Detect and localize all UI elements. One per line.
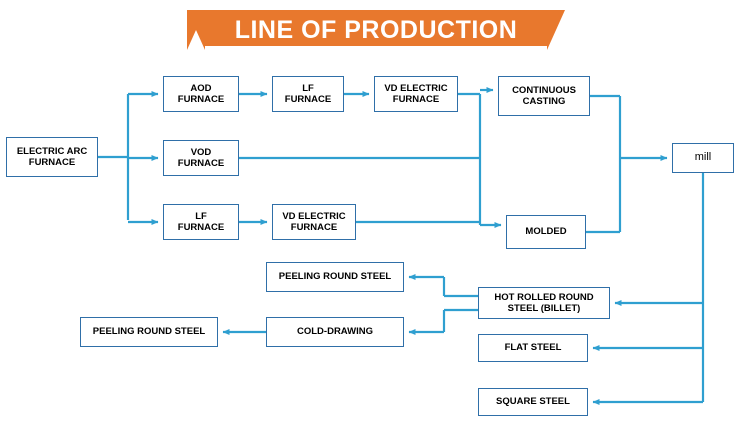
title-banner: LINE OF PRODUCTION — [187, 10, 565, 50]
node-hot-rolled-round-steel[interactable]: HOT ROLLED ROUNDSTEEL (BILLET) — [478, 287, 610, 319]
page-title: LINE OF PRODUCTION — [187, 10, 565, 50]
node-label: VD ELECTRICFURNACE — [282, 211, 345, 234]
node-label: AODFURNACE — [178, 83, 224, 106]
node-label: SQUARE STEEL — [496, 396, 570, 408]
node-label: ELECTRIC ARCFURNACE — [17, 146, 87, 169]
node-flat-steel[interactable]: FLAT STEEL — [478, 334, 588, 362]
node-aod-furnace[interactable]: AODFURNACE — [163, 76, 239, 112]
node-molded[interactable]: MOLDED — [506, 215, 586, 249]
node-label: CONTINUOUSCASTING — [512, 85, 576, 108]
node-electric-arc-furnace[interactable]: ELECTRIC ARCFURNACE — [6, 137, 98, 177]
node-vd-electric-furnace-bottom[interactable]: VD ELECTRICFURNACE — [272, 204, 356, 240]
node-vd-electric-furnace-top[interactable]: VD ELECTRICFURNACE — [374, 76, 458, 112]
node-vod-furnace[interactable]: VODFURNACE — [163, 140, 239, 176]
node-label: MOLDED — [525, 226, 566, 238]
node-label: LFFURNACE — [285, 83, 331, 106]
node-label: COLD-DRAWING — [297, 326, 373, 338]
node-continuous-casting[interactable]: CONTINUOUSCASTING — [498, 76, 590, 116]
node-square-steel[interactable]: SQUARE STEEL — [478, 388, 588, 416]
node-label: LFFURNACE — [178, 211, 224, 234]
node-label: FLAT STEEL — [505, 342, 562, 354]
connector-layer — [0, 0, 750, 433]
diagram-canvas: LINE OF PRODUCTION — [0, 0, 750, 433]
node-label: PEELING ROUND STEEL — [93, 326, 205, 338]
node-peeling-round-steel-left[interactable]: PEELING ROUND STEEL — [80, 317, 218, 347]
node-peeling-round-steel-top[interactable]: PEELING ROUND STEEL — [266, 262, 404, 292]
node-cold-drawing[interactable]: COLD-DRAWING — [266, 317, 404, 347]
node-label: HOT ROLLED ROUNDSTEEL (BILLET) — [494, 292, 593, 315]
node-label: PEELING ROUND STEEL — [279, 271, 391, 283]
node-label: mill — [695, 152, 712, 164]
node-label: VD ELECTRICFURNACE — [384, 83, 447, 106]
node-lf-furnace-top[interactable]: LFFURNACE — [272, 76, 344, 112]
node-mill[interactable]: mill — [672, 143, 734, 173]
node-label: VODFURNACE — [178, 147, 224, 170]
node-lf-furnace-bottom[interactable]: LFFURNACE — [163, 204, 239, 240]
